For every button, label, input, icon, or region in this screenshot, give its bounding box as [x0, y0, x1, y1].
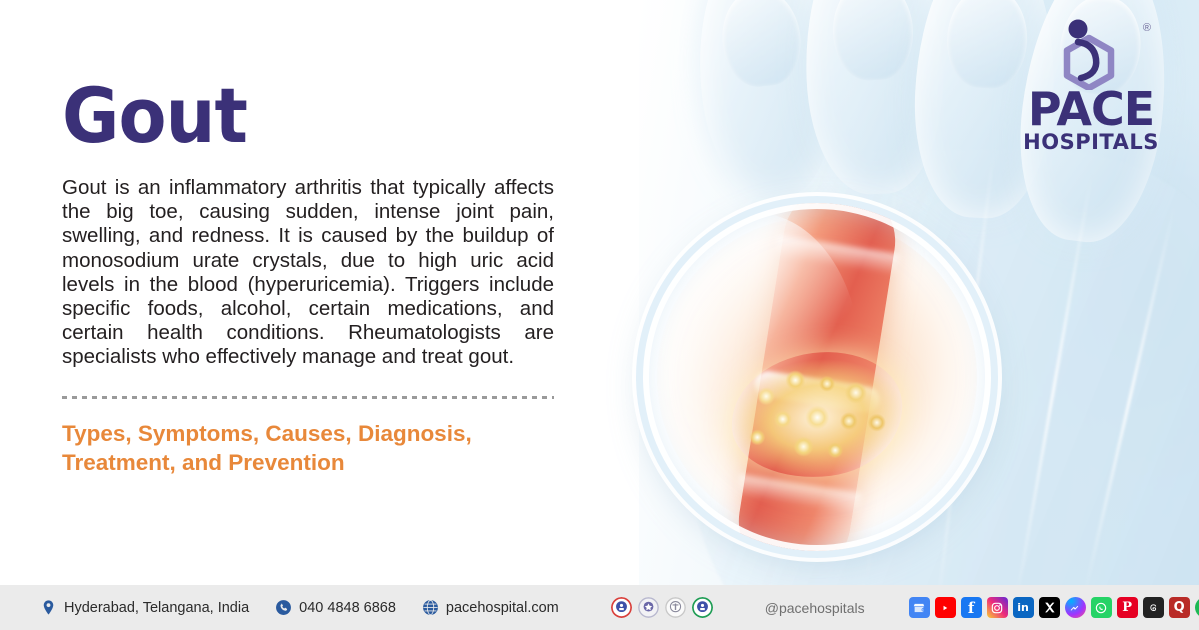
registered-mark: ® — [1143, 22, 1151, 34]
nabh-badge[interactable] — [611, 597, 632, 618]
instagram-icon[interactable] — [987, 597, 1008, 618]
footer-contact-group: Hyderabad, Telangana, India 040 4848 686… — [0, 597, 1199, 618]
x-glyph — [1043, 601, 1056, 614]
footer-location-text: Hyderabad, Telangana, India — [64, 600, 249, 616]
infographic-canvas: ® PACE HOSPITALS Gout Gout is an inflamm… — [0, 0, 1199, 630]
dotted-divider — [62, 396, 554, 399]
content-column: Gout Gout is an inflammatory arthritis t… — [62, 0, 562, 478]
google-business-icon[interactable]: G — [909, 597, 930, 618]
map-pin-icon — [40, 599, 57, 616]
youtube-icon[interactable] — [935, 597, 956, 618]
footer-phone[interactable]: 040 4848 6868 — [275, 599, 396, 616]
description-paragraph: Gout is an inflammatory arthritis that t… — [62, 176, 554, 370]
quora-icon[interactable]: Q — [1169, 597, 1190, 618]
google-business-glyph: G — [912, 601, 926, 615]
magnifier-lens — [643, 203, 991, 551]
whatsapp-glyph — [1094, 601, 1108, 615]
page-title: Gout — [62, 0, 522, 154]
toenail-2 — [831, 0, 914, 81]
whatsapp-icon[interactable] — [1091, 597, 1112, 618]
messenger-icon[interactable] — [1065, 597, 1086, 618]
instagram-glyph — [990, 601, 1004, 615]
jci-badge[interactable] — [665, 597, 686, 618]
subtitle-topics: Types, Symptoms, Causes, Diagnosis, Trea… — [62, 419, 562, 478]
lens-contents — [643, 203, 991, 551]
footer-phone-text: 040 4848 6868 — [299, 600, 396, 616]
threads-icon[interactable] — [1143, 597, 1164, 618]
threads-glyph — [1147, 601, 1160, 614]
accreditation-badges — [611, 597, 713, 618]
youtube-glyph — [938, 601, 952, 615]
spotify-icon[interactable] — [1195, 597, 1199, 618]
skin-crease — [1014, 173, 1093, 607]
toe-shape-2 — [801, 0, 946, 196]
toenail-1 — [718, 0, 806, 90]
pinterest-icon[interactable]: P — [1117, 597, 1138, 618]
messenger-glyph — [1068, 601, 1082, 615]
facebook-icon[interactable]: f — [961, 597, 982, 618]
linkedin-icon[interactable]: in — [1013, 597, 1034, 618]
svg-text:G: G — [921, 607, 925, 612]
footer-location[interactable]: Hyderabad, Telangana, India — [40, 599, 249, 616]
skin-crease — [1083, 205, 1176, 595]
logo-brand-text: PACE — [1017, 90, 1165, 130]
footer-bar: Hyderabad, Telangana, India 040 4848 686… — [0, 585, 1199, 630]
social-icon-row: G f in — [909, 597, 1199, 618]
footer-website[interactable]: pacehospital.com — [422, 599, 559, 616]
footer-website-text: pacehospital.com — [446, 600, 559, 616]
phone-icon — [275, 599, 292, 616]
nabl-badge[interactable] — [638, 597, 659, 618]
hexagon-person-icon — [1048, 18, 1134, 90]
x-twitter-icon[interactable] — [1039, 597, 1060, 618]
logo-subbrand-text: HOSPITALS — [1017, 130, 1165, 155]
social-handle: @pacehospitals — [765, 600, 865, 616]
logo-mark: ® — [1017, 18, 1165, 90]
toe-shape-1 — [687, 0, 842, 204]
globe-icon — [422, 599, 439, 616]
iso-badge[interactable] — [692, 597, 713, 618]
pace-hospitals-logo[interactable]: ® PACE HOSPITALS — [1017, 18, 1165, 155]
